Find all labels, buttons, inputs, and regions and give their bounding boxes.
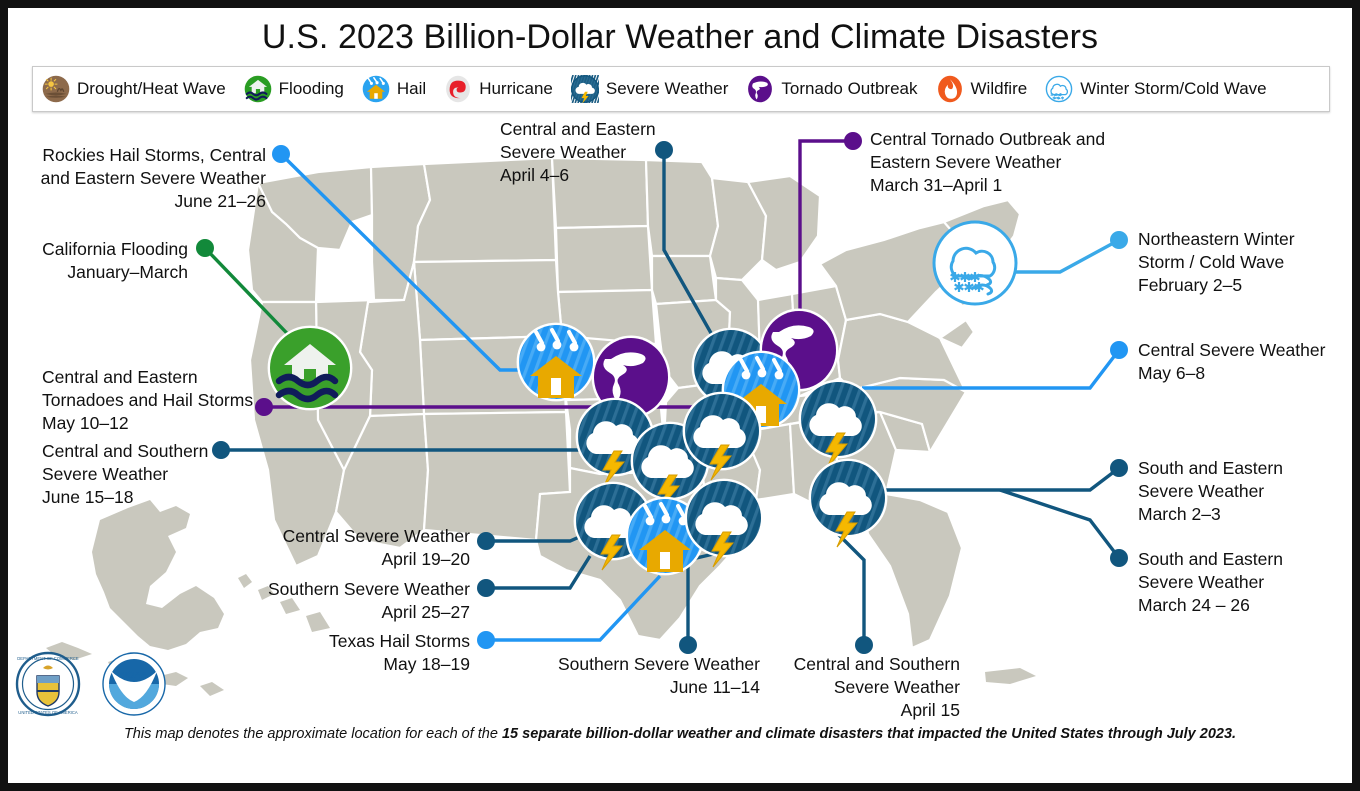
callout-line: South and Eastern	[1138, 548, 1283, 571]
callout-line: Central Severe Weather	[283, 525, 470, 548]
callout-line: Central Severe Weather	[1138, 339, 1325, 362]
callout-line: Central and Southern	[42, 440, 208, 463]
connector-dot-central-southern-severe-weather-april-15[interactable]	[855, 636, 873, 654]
callout-central-severe-weather-april-19-20[interactable]: Central Severe WeatherApril 19–20	[283, 525, 470, 571]
connector-dot-central-severe-weather-april-19-20[interactable]	[477, 532, 495, 550]
callout-line: California Flooding	[42, 238, 188, 261]
connector-dot-rockies-hail-storms[interactable]	[272, 145, 290, 163]
callout-northeastern-winter-storm-cold-wave[interactable]: Northeastern WinterStorm / Cold WaveFebr…	[1138, 228, 1295, 297]
callout-line: June 11–14	[558, 676, 760, 699]
connector-south-eastern-march-24-26	[1000, 490, 1119, 558]
connector-dot-central-eastern-severe-weather-april-4-6[interactable]	[655, 141, 673, 159]
callout-line: Central and Eastern	[500, 118, 656, 141]
connector-dot-central-southern-severe-weather-june[interactable]	[212, 441, 230, 459]
callout-central-southern-severe-weather-april-15[interactable]: Central and SouthernSevere WeatherApril …	[794, 653, 960, 722]
callout-line: Severe Weather	[500, 141, 656, 164]
billion-dollar-disasters-map: U.S. 2023 Billion-Dollar Weather and Cli…	[0, 0, 1360, 791]
callout-south-eastern-severe-weather-march-2-3[interactable]: South and EasternSevere WeatherMarch 2–3	[1138, 457, 1283, 526]
connector-south-eastern-march-2-3	[870, 468, 1119, 490]
callout-line: Severe Weather	[42, 463, 208, 486]
connector-central-southern-april-15	[828, 524, 864, 645]
callout-line: Southern Severe Weather	[558, 653, 760, 676]
map-marker-winter-northeast[interactable]	[934, 222, 1016, 304]
callout-line: April 15	[794, 699, 960, 722]
callout-line: Rockies Hail Storms, Central	[41, 144, 266, 167]
department-of-commerce-seal-icon: DEPARTMENT OF COMMERCE UNITED STATES OF …	[17, 653, 79, 715]
callout-line: May 10–12	[42, 412, 253, 435]
map-marker-flooding-ca[interactable]	[268, 326, 353, 411]
callout-line: Central and Southern	[794, 653, 960, 676]
connector-dot-california-flooding[interactable]	[196, 239, 214, 257]
callout-line: Storm / Cold Wave	[1138, 251, 1295, 274]
callout-line: Eastern Severe Weather	[870, 151, 1105, 174]
callout-line: Central Tornado Outbreak and	[870, 128, 1105, 151]
callout-southern-severe-weather-june-11-14[interactable]: Southern Severe WeatherJune 11–14	[558, 653, 760, 699]
callout-line: March 31–April 1	[870, 174, 1105, 197]
callout-line: Severe Weather	[1138, 480, 1283, 503]
callout-line: April 19–20	[283, 548, 470, 571]
callout-line: Southern Severe Weather	[268, 578, 470, 601]
callout-line: Northeastern Winter	[1138, 228, 1295, 251]
callout-line: Severe Weather	[794, 676, 960, 699]
puerto-rico-landmass	[985, 668, 1036, 684]
callout-central-southern-severe-weather-june[interactable]: Central and SouthernSevere WeatherJune 1…	[42, 440, 208, 509]
callout-line: January–March	[42, 261, 188, 284]
callout-line: March 24 – 26	[1138, 594, 1283, 617]
connector-dot-northeastern-winter-storm-cold-wave[interactable]	[1110, 231, 1128, 249]
callout-line: June 15–18	[42, 486, 208, 509]
callout-line: Texas Hail Storms	[329, 630, 470, 653]
callout-line: March 2–3	[1138, 503, 1283, 526]
callout-line: Severe Weather	[1138, 571, 1283, 594]
callout-line: February 2–5	[1138, 274, 1295, 297]
svg-text:NOAA: NOAA	[121, 670, 148, 680]
callout-line: Tornadoes and Hail Storms	[42, 389, 253, 412]
callout-line: June 21–26	[41, 190, 266, 213]
callout-south-eastern-severe-weather-march-24-26[interactable]: South and EasternSevere WeatherMarch 24 …	[1138, 548, 1283, 617]
connector-dot-central-eastern-tornadoes-hail-storms[interactable]	[255, 398, 273, 416]
footnote-prefix: This map denotes the approximate locatio…	[124, 726, 502, 742]
callout-central-severe-weather-may-6-8[interactable]: Central Severe WeatherMay 6–8	[1138, 339, 1325, 385]
connector-dot-texas-hail-storms[interactable]	[477, 631, 495, 649]
footnote-bold: 15 separate billion-dollar weather and c…	[502, 726, 1236, 742]
callout-texas-hail-storms[interactable]: Texas Hail StormsMay 18–19	[329, 630, 470, 676]
connector-dot-south-eastern-severe-weather-march-2-3[interactable]	[1110, 459, 1128, 477]
callout-central-eastern-severe-weather-april-4-6[interactable]: Central and EasternSevere WeatherApril 4…	[500, 118, 656, 187]
connector-dot-central-tornado-outbreak-eastern-severe-weather[interactable]	[844, 132, 862, 150]
callout-central-eastern-tornadoes-hail-storms[interactable]: Central and EasternTornadoes and Hail St…	[42, 366, 253, 435]
connector-dot-south-eastern-severe-weather-march-24-26[interactable]	[1110, 549, 1128, 567]
callout-line: and Eastern Severe Weather	[41, 167, 266, 190]
svg-text:UNITED STATES OF AMERICA: UNITED STATES OF AMERICA	[18, 710, 78, 715]
callout-rockies-hail-storms[interactable]: Rockies Hail Storms, Centraland Eastern …	[41, 144, 266, 213]
callout-southern-severe-weather-april-25-27[interactable]: Southern Severe WeatherApril 25–27	[268, 578, 470, 624]
connector-dot-central-severe-weather-may-6-8[interactable]	[1110, 341, 1128, 359]
svg-text:DEPARTMENT OF COMMERCE: DEPARTMENT OF COMMERCE	[17, 656, 79, 661]
connector-dot-southern-severe-weather-june-11-14[interactable]	[679, 636, 697, 654]
callout-line: May 18–19	[329, 653, 470, 676]
callout-california-flooding[interactable]: California FloodingJanuary–March	[42, 238, 188, 284]
callout-line: May 6–8	[1138, 362, 1325, 385]
noaa-logo-icon: NOAA	[103, 653, 165, 715]
callout-line: Central and Eastern	[42, 366, 253, 389]
callout-line: South and Eastern	[1138, 457, 1283, 480]
callout-line: April 4–6	[500, 164, 656, 187]
connector-dot-southern-severe-weather-april-25-27[interactable]	[477, 579, 495, 597]
callout-line: April 25–27	[268, 601, 470, 624]
callout-central-tornado-outbreak-eastern-severe-weather[interactable]: Central Tornado Outbreak andEastern Seve…	[870, 128, 1105, 197]
footnote: This map denotes the approximate locatio…	[0, 726, 1360, 742]
agency-logos: DEPARTMENT OF COMMERCE UNITED STATES OF …	[10, 648, 190, 720]
map-marker-hail-rockies[interactable]	[517, 323, 596, 402]
